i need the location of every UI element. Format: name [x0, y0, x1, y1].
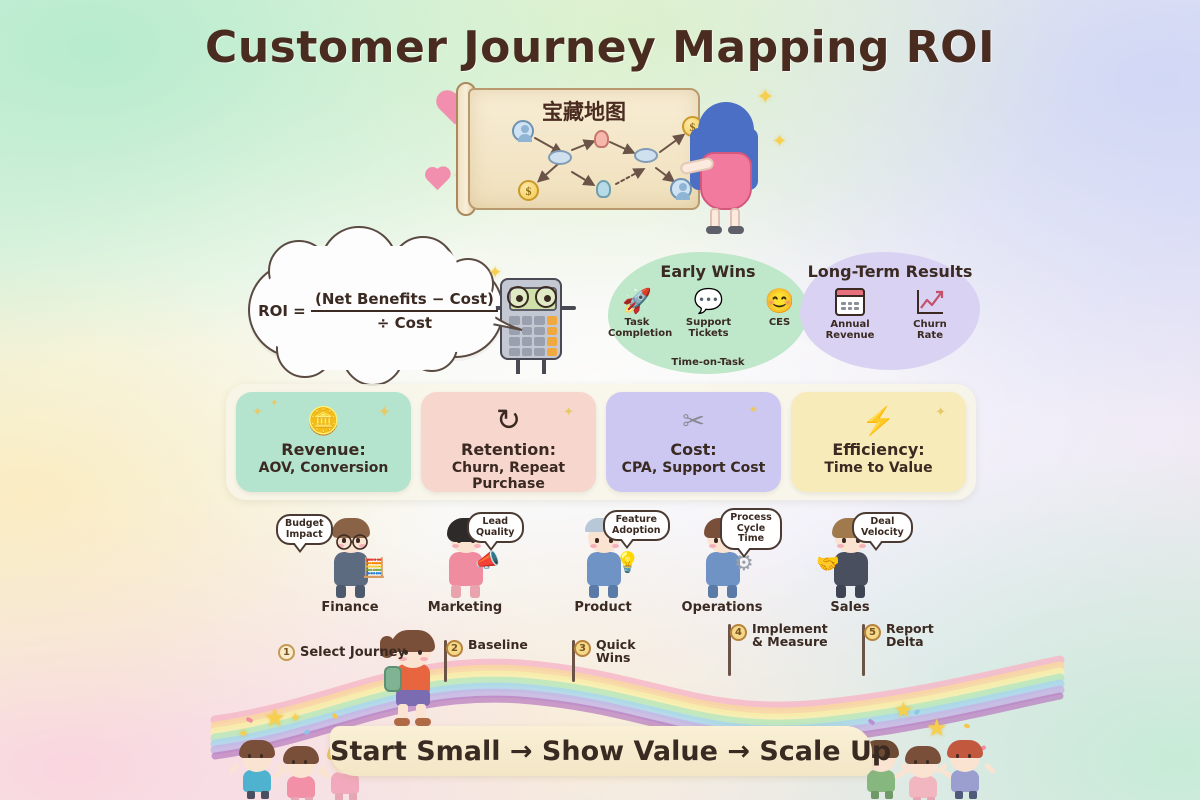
trend-chart-icon [915, 288, 945, 316]
infographic-canvas: Customer Journey Mapping ROI ✦ ✦ ✦ ✦ 宝藏地… [0, 0, 1200, 800]
metric-task-completion: 🚀 Task Completion [608, 288, 666, 339]
tagline-text: Start Small → Show Value → Scale Up [330, 736, 872, 767]
hair [698, 102, 754, 158]
speech-bubble-lead-quality: Lead Quality [467, 512, 524, 543]
roi-denominator: ÷ Cost [311, 312, 498, 332]
sparkle-icon: ✦ [488, 264, 502, 281]
pillar-subtitle: Time to Value [791, 460, 966, 476]
roi-numerator: (Net Benefits − Cost) [311, 290, 498, 312]
roi-prefix: ROI = [258, 302, 306, 320]
pillar-card-cost[interactable]: ✦ ✂ Cost: CPA, Support Cost [606, 392, 781, 492]
step-number: 3 [574, 640, 591, 657]
hero-treasure-map: ✦ ✦ ✦ ✦ 宝藏地图 [420, 80, 780, 240]
pillar-title: Revenue: [236, 440, 411, 459]
pillar-title: Cost: [606, 440, 781, 459]
lightbulb-icon: 💡 [615, 550, 640, 575]
kid-figure [236, 736, 280, 798]
journey-step-1[interactable]: 1 Select Journey [278, 644, 406, 661]
speech-bubble-budget-impact: Budget Impact [276, 514, 333, 545]
megaphone-icon: 📣 [475, 548, 500, 573]
pillar-title: Retention: [421, 440, 596, 459]
leg [542, 360, 546, 374]
pillar-subtitle: Churn, Repeat Purchase [421, 460, 596, 492]
step-number: 4 [730, 624, 747, 641]
step-number: 5 [864, 624, 881, 641]
metric-churn-rate: Churn Rate [901, 288, 959, 341]
long-term-metrics: Annual Revenue Churn Rate [800, 288, 980, 341]
roi-formula-bubble: ROI = (Net Benefits − Cost) ÷ Cost [248, 262, 504, 358]
step-label: Select Journey [300, 645, 406, 660]
early-wins-group: Early Wins 🚀 Task Completion 💬 Support T… [608, 252, 808, 374]
leg [516, 360, 520, 374]
pillar-cards: ✦ ✦ ✦ 🪙 Revenue: AOV, Conversion ✦ ↻ Ret… [236, 392, 966, 492]
team-roles-row: Budget Impact 🧮 Finance Lea [250, 512, 950, 620]
shoe [728, 226, 744, 234]
roi-formula-text: ROI = (Net Benefits − Cost) ÷ Cost [250, 290, 506, 332]
long-term-heading: Long-Term Results [800, 262, 980, 281]
map-node-person [512, 120, 534, 142]
step-label: Quick Wins [596, 638, 636, 664]
page-title: Customer Journey Mapping ROI [0, 22, 1200, 73]
early-wins-metrics: 🚀 Task Completion 💬 Support Tickets 😊 CE… [608, 288, 808, 339]
metric-time-on-task: Time-on-Task [608, 357, 808, 368]
map-node-stage [634, 148, 658, 163]
metric-label: Support Tickets [680, 317, 737, 339]
step-number: 2 [446, 640, 463, 657]
map-node-touchpoint [596, 180, 611, 198]
arm [560, 306, 576, 310]
step-number: 1 [278, 644, 295, 661]
sparkle-icon: ✦ [378, 402, 391, 422]
star-icon: ★ [264, 704, 286, 733]
backpack-icon [384, 666, 402, 692]
metric-label: Task Completion [608, 317, 666, 339]
calendar-icon [835, 288, 865, 316]
kid-figure [944, 736, 988, 798]
calculator-icon: 🧮 [362, 556, 386, 580]
pillar-title: Efficiency: [791, 440, 966, 459]
star-icon: ✦ [290, 710, 301, 726]
metric-support-tickets: 💬 Support Tickets [680, 288, 737, 339]
pillar-card-retention[interactable]: ✦ ↻ Retention: Churn, Repeat Purchase [421, 392, 596, 492]
metric-label: Churn Rate [901, 319, 959, 341]
handshake-icon: 🤝 [816, 552, 840, 576]
map-node-stage [548, 150, 572, 165]
sparkle-icon: ✦ [748, 402, 759, 418]
sparkle-icon: ✦ [935, 404, 946, 420]
pillar-subtitle: AOV, Conversion [236, 460, 411, 476]
girl-character [688, 102, 764, 232]
speech-bubble-deal-velocity: Deal Velocity [852, 512, 913, 543]
sparkle-icon: ✦ [563, 404, 574, 420]
long-term-results-group: Long-Term Results Annual Revenue Churn [800, 252, 980, 370]
speech-bubble-process-cycle-time: Process Cycle Time [720, 508, 782, 550]
metric-label: Annual Revenue [821, 319, 879, 341]
map-node-coin: $ [518, 180, 539, 201]
pillar-subtitle: CPA, Support Cost [606, 460, 781, 476]
metric-annual-revenue: Annual Revenue [821, 288, 879, 341]
pillar-card-efficiency[interactable]: ✦ ⚡ Efficiency: Time to Value [791, 392, 966, 492]
sparkle-icon: ✦ [252, 404, 263, 420]
step-label: Report Delta [886, 622, 934, 648]
pillar-card-revenue[interactable]: ✦ ✦ ✦ 🪙 Revenue: AOV, Conversion [236, 392, 411, 492]
step-label: Implement & Measure [752, 622, 828, 648]
map-node-idea [594, 130, 609, 148]
glasses-icon [507, 286, 559, 310]
early-wins-heading: Early Wins [608, 262, 808, 281]
star-icon: ★ [894, 698, 913, 723]
speech-bubble-feature-adoption: Feature Adoption [603, 510, 670, 541]
rocket-icon: 🚀 [608, 288, 666, 316]
shoe [706, 226, 722, 234]
chat-bubbles-icon: 💬 [680, 288, 737, 316]
sparkle-icon: ✦ [270, 398, 278, 409]
step-label: Baseline [468, 638, 528, 651]
